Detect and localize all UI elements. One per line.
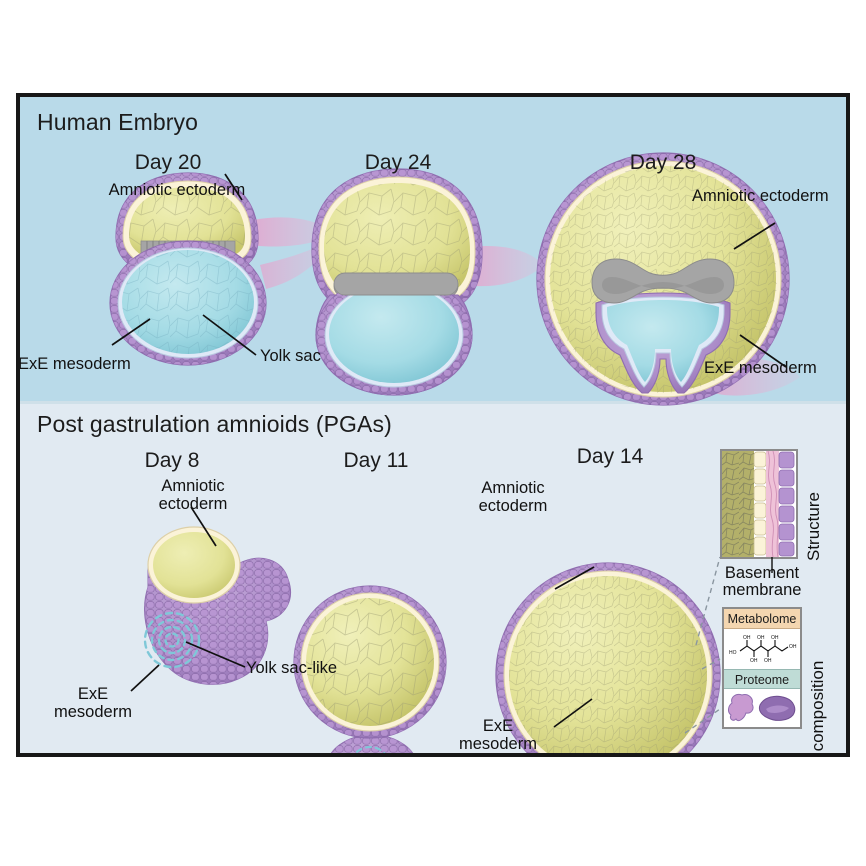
svg-text:OH: OH xyxy=(789,644,797,650)
figure-panel: Human Embryo xyxy=(16,93,850,757)
proteome-protein-icon xyxy=(724,689,800,729)
stage-label-day14: Day 14 xyxy=(550,445,670,469)
day24-illustration xyxy=(312,169,544,395)
svg-text:OH: OH xyxy=(743,635,751,641)
panel-title-pga: Post gastrulation amnioids (PGAs) xyxy=(37,411,392,438)
annotation-day8-amniotic-ectoderm: Amniotic ectoderm xyxy=(118,477,268,513)
band-metabolome: Metabolome xyxy=(724,609,800,629)
band-proteome: Proteome xyxy=(724,669,800,689)
annotation-day14-exe-mesoderm: ExE mesoderm xyxy=(438,717,558,753)
inset-fluid-composition: Metabolome HO OH OH OH OH OH OH Proteome xyxy=(722,607,802,729)
inset-structure xyxy=(720,449,798,559)
metabolome-molecule-icon: HO OH OH OH OH OH OH xyxy=(724,629,800,669)
annotation-day14-amniotic-ectoderm: Amniotic ectoderm xyxy=(438,479,588,515)
annotation-day28-amniotic-ectoderm: Amniotic ectoderm xyxy=(692,187,829,205)
annotation-day8-yolk-sac-like: Yolk sac-like xyxy=(246,659,337,677)
svg-text:HO: HO xyxy=(729,650,737,656)
annotation-day20-amniotic-ectoderm: Amniotic ectoderm xyxy=(82,181,272,199)
annotation-day20-yolk-sac: Yolk sac xyxy=(260,347,321,365)
svg-text:OH: OH xyxy=(750,658,758,664)
svg-text:OH: OH xyxy=(771,635,779,641)
annotation-day8-exe-mesoderm: ExE mesoderm xyxy=(38,685,148,721)
inset-side-label-fluid-composition: Fluid composition xyxy=(808,605,828,757)
stage-label-day24: Day 24 xyxy=(338,151,458,175)
inset-side-label-structure: Structure xyxy=(804,449,824,561)
stage-label-day20: Day 20 xyxy=(108,151,228,175)
svg-text:OH: OH xyxy=(757,635,765,641)
stage-label-day11: Day 11 xyxy=(316,449,436,473)
stage-label-day28: Day 28 xyxy=(603,151,723,175)
day20-illustration xyxy=(110,173,336,365)
stage-label-day8: Day 8 xyxy=(112,449,232,473)
annotation-day28-exe-mesoderm: ExE mesoderm xyxy=(704,359,817,377)
svg-text:OH: OH xyxy=(764,658,772,664)
annotation-day20-exe-mesoderm: ExE mesoderm xyxy=(18,355,131,373)
inset-caption-basement-membrane: Basement membrane xyxy=(710,565,814,599)
